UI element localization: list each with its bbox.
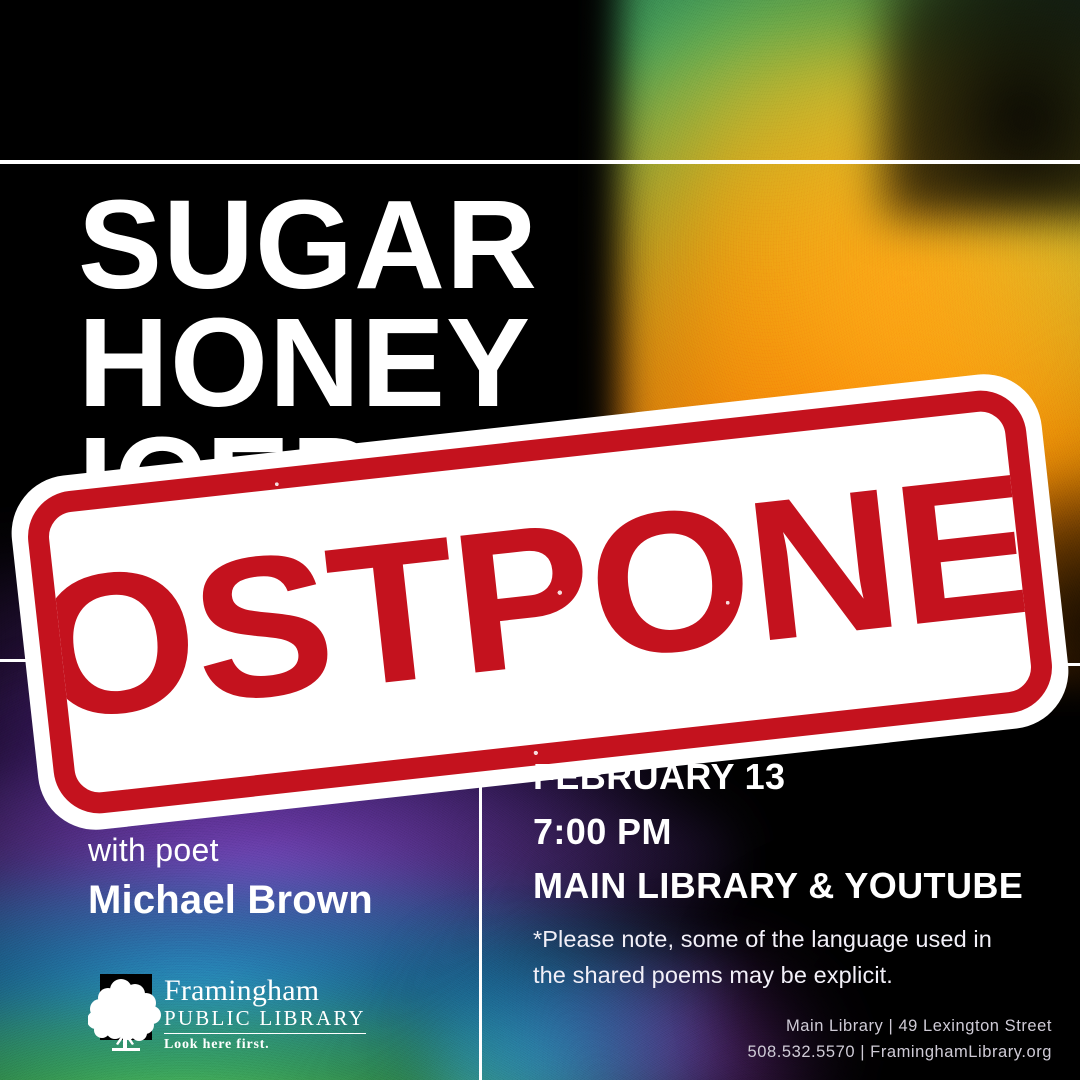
logo-subtitle: PUBLIC LIBRARY (164, 1006, 366, 1034)
tree-icon (100, 974, 152, 1040)
event-date: FEBRUARY 13 (533, 750, 1053, 805)
background-shadow-top-right (880, 0, 1080, 220)
presenter-prefix: with poet (88, 830, 468, 872)
presenter-name: Michael Brown (88, 874, 468, 926)
event-poster: SUGAR HONEY ICED TEA POSTPONED with poet… (0, 0, 1080, 1080)
footer-contact: Main Library | 49 Lexington Street 508.5… (748, 1013, 1052, 1066)
stamp-label: POSTPONED (23, 427, 1056, 767)
event-disclaimer: *Please note, some of the language used … (533, 922, 1003, 993)
event-location: MAIN LIBRARY & YOUTUBE (533, 859, 1053, 914)
library-logo: Framingham PUBLIC LIBRARY Look here firs… (100, 974, 366, 1053)
event-details: FEBRUARY 13 7:00 PM MAIN LIBRARY & YOUTU… (533, 750, 1053, 914)
divider-bottom-vertical (479, 742, 482, 1080)
logo-tagline: Look here first. (164, 1037, 366, 1053)
logo-wordmark: Framingham PUBLIC LIBRARY Look here firs… (164, 974, 366, 1053)
divider-top-horizontal (0, 160, 1080, 164)
event-time: 7:00 PM (533, 805, 1053, 860)
presenter-block: with poet Michael Brown (88, 830, 468, 926)
logo-name: Framingham (164, 976, 366, 1006)
